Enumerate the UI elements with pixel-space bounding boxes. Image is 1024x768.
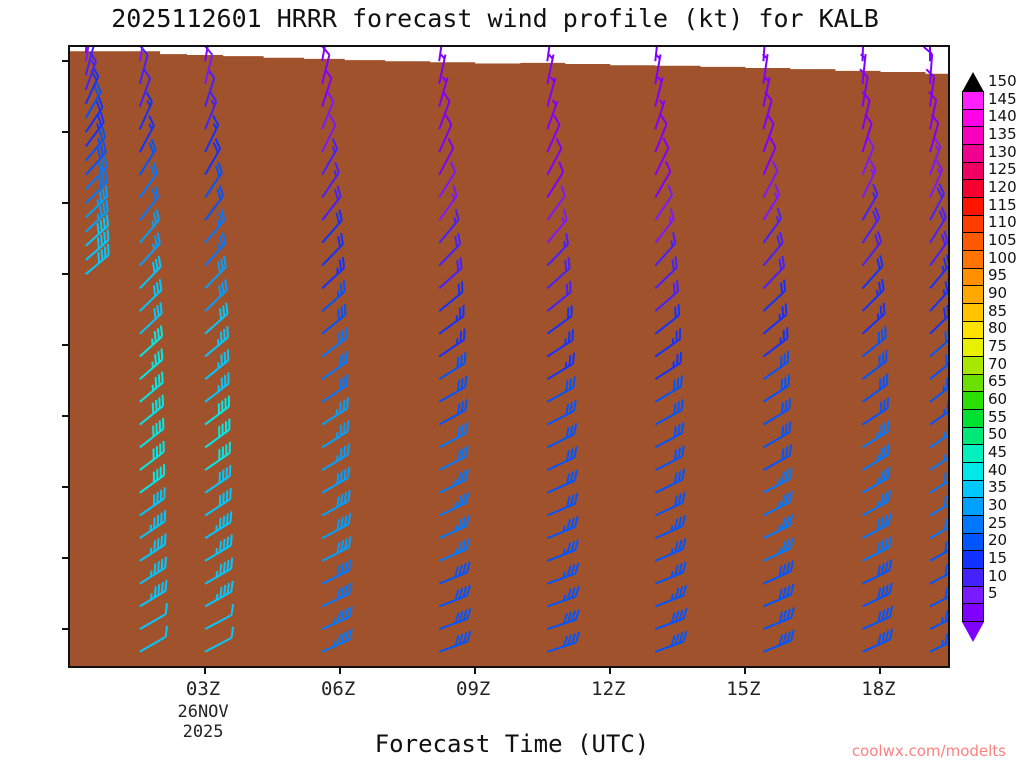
barb-feather: [155, 564, 156, 575]
x-tick-mark: [609, 666, 611, 674]
barb-feather: [888, 421, 889, 432]
colorbar-tick-label: 95: [988, 266, 1007, 284]
barb-feather: [785, 377, 786, 388]
barb-feather: [159, 397, 160, 408]
barb-feather: [459, 284, 460, 295]
colorbar-cell: [962, 179, 984, 198]
barb-feather: [162, 349, 163, 360]
barb-feather: [338, 309, 339, 320]
barb-feather: [779, 502, 780, 508]
barb-feather: [678, 401, 679, 412]
barb-feather: [674, 283, 675, 294]
barb-feather: [342, 307, 343, 318]
y-tick-mark: [62, 131, 70, 133]
barb-feather: [455, 479, 456, 485]
barb-feather: [221, 355, 222, 366]
colorbar-tick-label: 20: [988, 531, 1007, 549]
barb-feather: [98, 238, 99, 249]
barb-feather: [884, 400, 885, 411]
barb-feather: [158, 561, 159, 572]
barb-feather: [221, 332, 222, 343]
y-tick-mark: [62, 344, 70, 346]
y-tick-mark: [62, 60, 70, 62]
barb-feather: [337, 473, 338, 484]
barb-feather: [564, 241, 565, 247]
barb-feather: [106, 200, 107, 211]
barb-feather: [681, 352, 682, 363]
barb-feather: [566, 362, 567, 368]
barb-feather: [789, 398, 790, 409]
barb-feather: [166, 626, 167, 637]
barb-feather: [877, 290, 878, 296]
barb-feather: [945, 519, 946, 530]
barb-feather: [789, 375, 790, 386]
y-tick-mark: [62, 557, 70, 559]
barb-feather: [878, 501, 879, 507]
colorbar-tick-label: 115: [988, 196, 1017, 214]
barb-feather: [881, 306, 882, 317]
colorbar-tick-label: 130: [988, 143, 1017, 161]
colorbar-tick-label: 110: [988, 213, 1017, 231]
barb-feather: [160, 302, 161, 313]
barb-feather: [104, 218, 105, 229]
y-tick-mark: [62, 415, 70, 417]
barb-feather: [107, 215, 108, 226]
colorbar-tick-label: 80: [988, 319, 1007, 337]
colorbar-tick-label: 60: [988, 390, 1007, 408]
barb-feather: [153, 244, 154, 250]
colorbar-tick-label: 45: [988, 443, 1007, 461]
x-tick-label: 18Z: [861, 678, 895, 700]
y-tick-mark: [62, 273, 70, 275]
barb-feather: [231, 511, 232, 522]
barb-feather: [224, 585, 225, 596]
barb-feather: [337, 455, 338, 461]
barb-feather: [216, 548, 217, 554]
barb-feather: [566, 381, 567, 392]
barb-feather: [165, 534, 166, 545]
barb-feather: [885, 446, 886, 457]
barb-canvas: [70, 47, 948, 666]
barb-feather: [888, 444, 889, 455]
wind-profile-chart: 2025112601 HRRR forecast wind profile (k…: [0, 0, 1024, 768]
barb-feather: [682, 399, 683, 410]
barb-feather: [152, 362, 153, 368]
barb-feather: [345, 469, 346, 480]
barb-feather: [457, 260, 458, 271]
colorbar-tick-label: 25: [988, 514, 1007, 532]
barb-feather: [570, 281, 571, 292]
barb-feather: [879, 332, 880, 343]
colorbar-cell: [962, 268, 984, 287]
barb-feather: [881, 494, 882, 505]
colorbar-cell: [962, 497, 984, 516]
barb-feather: [455, 502, 456, 508]
barb-feather: [343, 257, 344, 268]
barb-feather: [888, 397, 889, 408]
colorbar-tick-label: 75: [988, 337, 1007, 355]
barb-feather: [223, 516, 224, 527]
barb-feather: [345, 492, 346, 503]
barb-feather: [231, 581, 232, 592]
barb-feather: [786, 447, 787, 458]
barb-feather: [220, 518, 221, 529]
colorbar-tick-label: 145: [988, 90, 1017, 108]
barb-shaft: [863, 47, 864, 61]
colorbar-cell: [962, 285, 984, 304]
colorbar-tick-label: 40: [988, 461, 1007, 479]
colorbar-cell: [962, 91, 984, 110]
barb-feather: [102, 249, 103, 260]
colorbar-cell: [962, 427, 984, 446]
barb-feather: [345, 304, 346, 315]
barb-feather: [161, 536, 162, 547]
colorbar-cell: [962, 215, 984, 234]
plot-area: [68, 45, 950, 668]
barb-feather: [162, 372, 163, 383]
barb-feather: [570, 379, 571, 390]
barb-feather: [340, 260, 341, 271]
barb-feather: [104, 232, 105, 243]
colorbar-cell: [962, 303, 984, 322]
barb-feather: [781, 283, 782, 294]
barb-feather: [159, 374, 160, 385]
barb-feather: [945, 473, 946, 484]
barb-feather: [166, 603, 167, 614]
barb-feather: [223, 493, 224, 504]
barb-feather: [227, 514, 228, 525]
barb-feather: [460, 257, 461, 268]
barb-feather: [942, 617, 943, 623]
barb-feather: [348, 490, 349, 501]
barb-feather: [779, 479, 780, 485]
barb-feather: [572, 329, 573, 340]
barb-feather: [881, 448, 882, 459]
barb-feather: [341, 448, 342, 459]
barb-feather: [166, 580, 167, 591]
barb-feather: [341, 283, 342, 294]
barb-feather: [340, 402, 341, 413]
barb-feather: [227, 491, 228, 502]
colorbar-cell: [962, 162, 984, 181]
x-tick-label: 12Z: [591, 678, 625, 700]
colorbar-cell: [962, 391, 984, 410]
colorbar-cell: [962, 409, 984, 428]
barb-feather: [877, 455, 878, 461]
barb-feather: [108, 229, 109, 240]
colorbar-tick-label: 135: [988, 125, 1017, 143]
barb-feather: [677, 280, 678, 291]
barb-shaft: [655, 47, 658, 61]
barb-feather: [156, 400, 157, 411]
colorbar-tick-label: 120: [988, 178, 1017, 196]
colorbar-cell: [962, 144, 984, 163]
colorbar-tick-label: 30: [988, 496, 1007, 514]
barb-feather: [227, 537, 228, 548]
barb-feather: [344, 423, 345, 434]
barb-feather: [458, 380, 459, 391]
barb-feather: [230, 488, 231, 499]
barb-feather: [889, 490, 890, 501]
colorbar-tick-label: 35: [988, 478, 1007, 496]
terrain-fill: [70, 51, 948, 666]
colorbar-cell: [962, 480, 984, 499]
barb-feather: [573, 353, 574, 364]
barb-feather: [945, 496, 946, 507]
barb-feather: [681, 376, 682, 387]
colorbar-cell: [962, 126, 984, 145]
barb-feather: [224, 539, 225, 550]
barb-feather: [671, 241, 672, 247]
barb-feather: [789, 421, 790, 432]
colorbar-cell: [962, 232, 984, 251]
barb-feather: [105, 247, 106, 258]
barb-feather: [224, 329, 225, 340]
barb-feather: [231, 558, 232, 569]
barb-feather: [98, 138, 99, 144]
colorbar-tick-label: 90: [988, 284, 1007, 302]
barb-feather: [156, 377, 157, 388]
barb-feather: [782, 403, 783, 414]
barb-feather: [165, 557, 166, 568]
barb-feather: [155, 354, 156, 365]
barb-feather: [461, 355, 462, 366]
watermark: coolwx.com/modelts: [852, 742, 1006, 760]
barb-feather: [790, 445, 791, 456]
barb-feather: [161, 326, 162, 337]
colorbar-tick-label: 85: [988, 302, 1007, 320]
colorbar-tick-label: 10: [988, 567, 1007, 585]
barb-feather: [672, 571, 673, 577]
barb-feather: [885, 469, 886, 480]
barb-feather: [782, 379, 783, 390]
x-tick-mark: [879, 666, 881, 674]
barb-feather: [786, 304, 787, 315]
barb-feather: [101, 235, 102, 246]
barb-feather: [152, 339, 153, 345]
barb-feather: [224, 562, 225, 573]
barb-feather: [153, 403, 154, 414]
barb-feather: [108, 244, 109, 255]
barb-feather: [155, 331, 156, 342]
colorbar-tick-label: 65: [988, 372, 1007, 390]
barb-feather: [101, 220, 102, 231]
barb-feather: [574, 377, 575, 388]
barb-feather: [946, 355, 947, 366]
barb-feather: [228, 349, 229, 360]
x-tick-mark: [474, 666, 476, 674]
colorbar-tick-label: 125: [988, 160, 1017, 178]
barb-feather: [162, 582, 163, 593]
barb-feather: [223, 306, 224, 317]
barb-feather: [881, 471, 882, 482]
colorbar-tick-label: 70: [988, 355, 1007, 373]
barb-feather: [231, 535, 232, 546]
barb-feather: [888, 467, 889, 478]
barb-feather: [218, 244, 219, 250]
barb-feather: [162, 559, 163, 570]
colorbar-tick-label: 105: [988, 231, 1017, 249]
barb-feather: [782, 449, 783, 460]
barb-feather: [163, 395, 164, 406]
barb-feather: [881, 425, 882, 436]
barb-feather: [155, 587, 156, 598]
barb-feather: [458, 357, 459, 368]
barb-feather: [341, 471, 342, 482]
barb-feather: [567, 284, 568, 295]
colorbar-tick-label: 15: [988, 549, 1007, 567]
colorbar-cell: [962, 374, 984, 393]
x-tick-mark: [339, 666, 341, 674]
barb-feather: [884, 303, 885, 314]
barb-feather: [671, 548, 672, 554]
barb-feather: [465, 352, 466, 363]
barb-feather: [338, 291, 339, 297]
barb-feather: [455, 548, 456, 554]
colorbar-cell: [962, 109, 984, 128]
barb-feather: [786, 400, 787, 411]
barb-feather: [462, 378, 463, 389]
barb-feather: [227, 560, 228, 571]
barb-feather: [878, 478, 879, 484]
barb-feather: [782, 306, 783, 317]
barb-feather: [786, 424, 787, 435]
colorbar-cell: [962, 444, 984, 463]
barb-feather: [334, 641, 335, 647]
y-tick-mark: [62, 486, 70, 488]
barb-feather: [337, 268, 338, 274]
colorbar-cell: [962, 321, 984, 340]
barb-feather: [944, 289, 945, 295]
barb-feather: [945, 542, 946, 553]
barb-feather: [151, 594, 152, 600]
x-tick-label: 06Z: [321, 678, 355, 700]
barb-shaft: [763, 47, 765, 61]
barb-feather: [226, 303, 227, 314]
barb-feather: [882, 329, 883, 340]
barb-feather: [878, 313, 879, 319]
barb-feather: [348, 421, 349, 432]
colorbar-tick-label: 50: [988, 425, 1007, 443]
barb-feather: [220, 587, 221, 598]
colorbar-cell: [962, 462, 984, 481]
colorbar-cell: [962, 250, 984, 269]
barb-feather: [458, 403, 459, 414]
barb-feather: [98, 252, 99, 263]
barb-feather: [674, 403, 675, 414]
barb-feather: [158, 328, 159, 339]
barb-feather: [784, 280, 785, 291]
plot-canvas: [70, 47, 948, 666]
barb-feather: [674, 380, 675, 391]
colorbar-tick-label: 55: [988, 408, 1007, 426]
colorbar-cell: [962, 568, 984, 587]
barb-feather: [569, 332, 570, 343]
colorbar-tick-label: 100: [988, 249, 1017, 267]
barb-feather: [337, 496, 338, 507]
barb-feather: [462, 401, 463, 412]
barb-feather: [344, 400, 345, 411]
barb-feather: [220, 564, 221, 575]
barb-feather: [158, 351, 159, 362]
x-tick-label: 03Z: [186, 678, 220, 700]
barb-feather: [348, 467, 349, 478]
barb-feather: [945, 331, 946, 342]
barb-feather: [154, 308, 155, 319]
barb-feather: [942, 640, 943, 646]
barb-feather: [225, 352, 226, 363]
barb-feather: [884, 423, 885, 434]
colorbar-cell: [962, 356, 984, 375]
colorbar-tick-label: 5: [988, 584, 998, 602]
colorbar-cell: [962, 533, 984, 552]
colorbar-tick-label: 140: [988, 107, 1017, 125]
barb-feather: [220, 308, 221, 319]
y-tick-mark: [62, 628, 70, 630]
x-tick-label: 15Z: [726, 678, 760, 700]
barb-feather: [154, 541, 155, 552]
colorbar-under-arrow: [962, 622, 984, 642]
barb-feather: [334, 618, 335, 624]
colorbar-cell: [962, 197, 984, 216]
barb-feather: [97, 199, 98, 205]
barb-feather: [465, 399, 466, 410]
colorbar[interactable]: 5101520253035404550556065707580859095100…: [962, 92, 984, 622]
barb-feather: [671, 525, 672, 531]
barb-feather: [100, 206, 101, 217]
barb-feather: [227, 326, 228, 337]
barb-feather: [158, 584, 159, 595]
barb-feather: [220, 495, 221, 506]
barb-feather: [568, 257, 569, 268]
barb-feather: [220, 541, 221, 552]
colorbar-cell: [962, 338, 984, 357]
barb-feather: [779, 548, 780, 554]
barb-feather: [348, 444, 349, 455]
barb-feather: [158, 538, 159, 549]
barb-feather: [465, 376, 466, 387]
barb-feather: [462, 281, 463, 292]
barb-feather: [347, 397, 348, 408]
colorbar-cell: [962, 586, 984, 605]
barb-feather: [228, 583, 229, 594]
barb-feather: [677, 354, 678, 365]
y-tick-mark: [62, 202, 70, 204]
colorbar-cell: [962, 550, 984, 569]
barb-feather: [549, 54, 553, 59]
colorbar-tick-label: 150: [988, 72, 1017, 90]
date-line: 26NOV: [177, 702, 228, 722]
barb-feather: [565, 260, 566, 271]
barb-feather: [885, 327, 886, 338]
page-title: 2025112601 HRRR forecast wind profile (k…: [0, 4, 990, 33]
colorbar-over-arrow: [962, 72, 984, 92]
x-tick-label: 09Z: [456, 678, 490, 700]
barb-feather: [157, 305, 158, 316]
barb-feather: [341, 494, 342, 505]
barb-feather: [881, 402, 882, 413]
colorbar-cell: [962, 515, 984, 534]
barb-feather: [344, 280, 345, 291]
x-tick-mark: [744, 666, 746, 674]
barb-feather: [885, 492, 886, 503]
barb-feather: [217, 594, 218, 600]
barb-feather: [98, 214, 99, 220]
barb-feather: [217, 571, 218, 577]
x-tick-mark: [204, 666, 206, 674]
barb-feather: [782, 426, 783, 437]
barb-feather: [569, 355, 570, 366]
